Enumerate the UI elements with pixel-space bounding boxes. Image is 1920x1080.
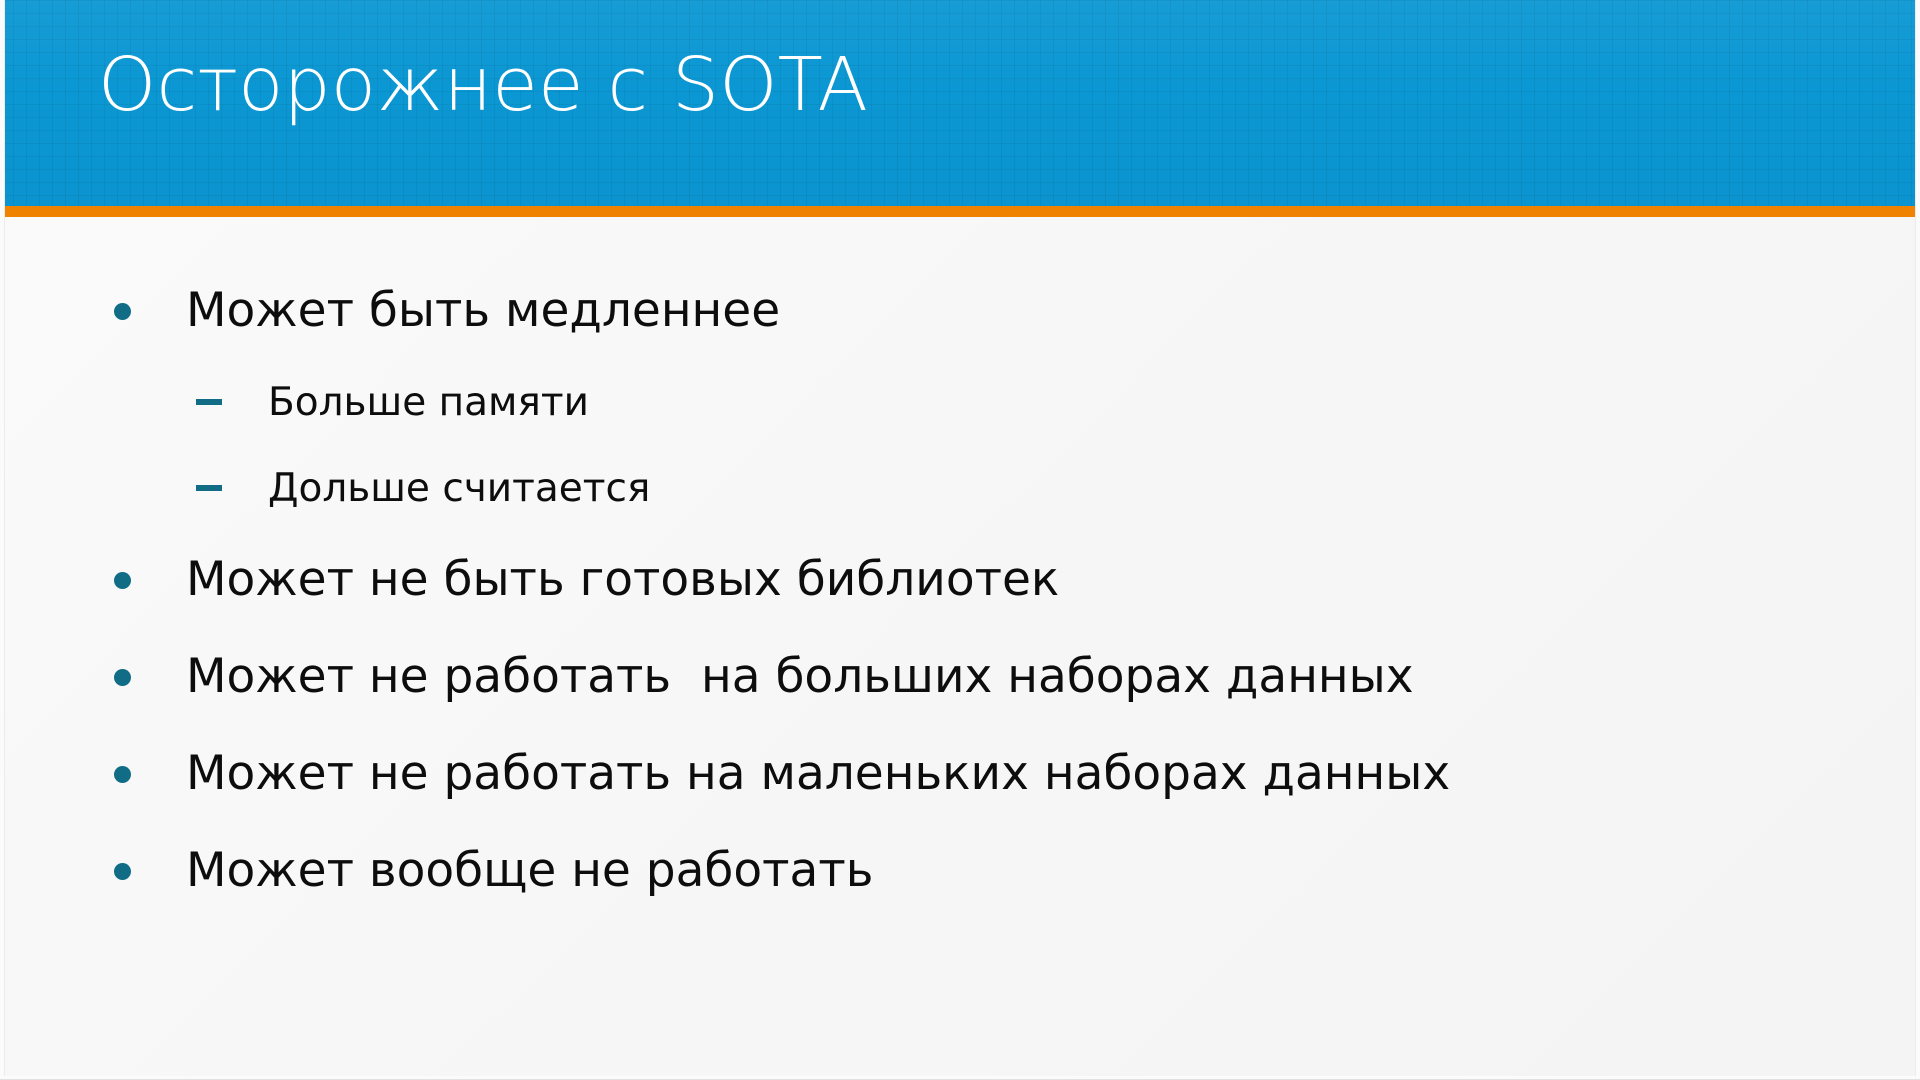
bullet-item: Может не работать на больших наборах дан…	[0, 641, 1920, 738]
dash-glyph	[196, 399, 222, 405]
dot-glyph	[114, 572, 131, 589]
header-accent-rule	[0, 206, 1920, 217]
dash-bullet-icon	[196, 372, 268, 434]
disc-bullet-icon	[112, 275, 186, 347]
dot-glyph	[114, 766, 131, 783]
bullet-item: Может не работать на маленьких наборах д…	[0, 738, 1920, 835]
slide-title: Осторожнее с SOTA	[98, 48, 868, 122]
bullet-item: Может вообще не работать	[0, 835, 1920, 932]
bullet-text: Может вообще не работать	[186, 835, 873, 907]
slide-right-edge	[1915, 0, 1920, 1080]
disc-bullet-icon	[112, 641, 186, 713]
dot-glyph	[114, 669, 131, 686]
dash-bullet-icon	[196, 458, 268, 520]
slide-body: Может быть медленнееБольше памятиДольше …	[0, 217, 1920, 1080]
disc-bullet-icon	[112, 544, 186, 616]
dot-glyph	[114, 863, 131, 880]
dash-glyph	[196, 485, 222, 491]
bullet-text: Больше памяти	[268, 372, 589, 434]
slide-bottom-edge	[0, 1076, 1920, 1080]
slide-header-band: Осторожнее с SOTA	[0, 0, 1920, 206]
slide-left-edge	[0, 0, 5, 1080]
dot-glyph	[114, 303, 131, 320]
bullet-text: Дольше считается	[268, 458, 650, 520]
disc-bullet-icon	[112, 738, 186, 810]
bullet-item: Больше памяти	[0, 372, 1920, 458]
bullet-text: Может не работать на маленьких наборах д…	[186, 738, 1450, 810]
bullet-item: Может быть медленнее	[0, 275, 1920, 372]
bullet-list: Может быть медленнееБольше памятиДольше …	[0, 275, 1920, 932]
bullet-text: Может не быть готовых библиотек	[186, 544, 1059, 616]
bullet-item: Дольше считается	[0, 458, 1920, 544]
bullet-text: Может не работать на больших наборах дан…	[186, 641, 1414, 713]
bullet-item: Может не быть готовых библиотек	[0, 544, 1920, 641]
disc-bullet-icon	[112, 835, 186, 907]
slide: Осторожнее с SOTA Может быть медленнееБо…	[0, 0, 1920, 1080]
bullet-text: Может быть медленнее	[186, 275, 780, 347]
